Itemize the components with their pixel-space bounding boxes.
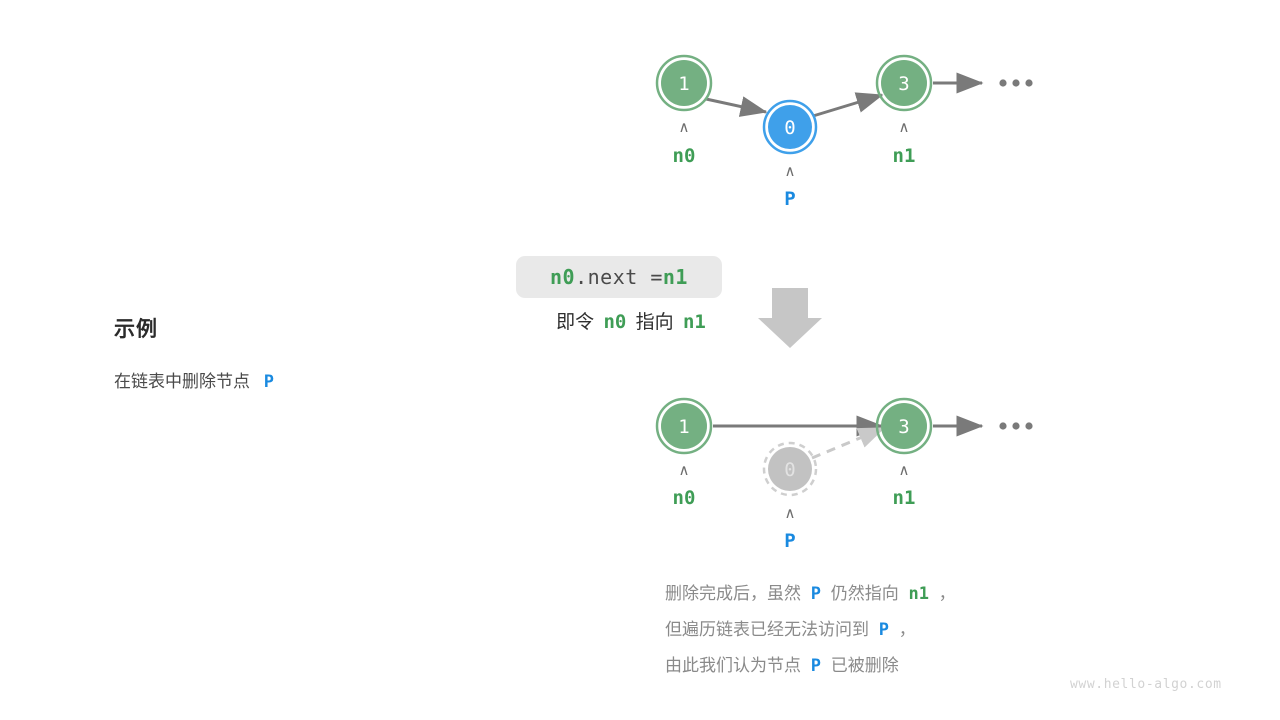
ellipsis-dot <box>999 79 1006 86</box>
ellipsis-dot <box>1012 79 1019 86</box>
explanation-line2-b: ， <box>899 620 916 639</box>
explanation-line1-c: ， <box>939 584 956 603</box>
node-value: 0 <box>784 117 795 139</box>
node-value: 1 <box>678 73 689 95</box>
node-n0-after: 1 ∧ n0 <box>657 399 711 509</box>
node-value: 3 <box>898 73 909 95</box>
node-value: 3 <box>898 416 909 438</box>
caret-icon: ∧ <box>899 461 910 479</box>
pointer-label-n1: n1 <box>893 487 916 509</box>
linked-list-diagram-svg: 1 ∧ n0 0 ∧ P 3 ∧ n1 <box>0 0 1280 720</box>
diagram-canvas: 示例 在链表中删除节点 P n0.next = n1 即令 n0 指向 n1 <box>0 0 1280 720</box>
explanation-line-1: 删除完成后，虽然 P 仍然指向 n1 ， <box>665 576 956 612</box>
explanation-line3-pointer: P <box>811 656 821 676</box>
diagram-before-deletion: 1 ∧ n0 0 ∧ P 3 ∧ n1 <box>657 56 1033 210</box>
explanation-line1-pointer: P <box>811 584 821 604</box>
explanation-line-2: 但遍历链表已经无法访问到 P ， <box>665 612 956 648</box>
caret-icon: ∧ <box>679 118 690 136</box>
explanation-line1-b: 仍然指向 <box>831 584 899 603</box>
node-n1-before: 3 ∧ n1 <box>877 56 931 167</box>
explanation-block: 删除完成后，虽然 P 仍然指向 n1 ， 但遍历链表已经无法访问到 P ， 由此… <box>665 576 956 684</box>
node-value: 0 <box>784 459 795 481</box>
caret-icon: ∧ <box>785 504 796 522</box>
ellipsis-dot <box>1025 79 1032 86</box>
explanation-line1-a: 删除完成后，虽然 <box>665 584 801 603</box>
diagram-after-deletion: 1 ∧ n0 0 ∧ P 3 ∧ n1 <box>657 399 1033 552</box>
caret-icon: ∧ <box>785 162 796 180</box>
edge-n0-to-p <box>706 99 766 112</box>
ellipsis-before <box>999 79 1032 86</box>
node-p-before: 0 ∧ P <box>764 101 816 210</box>
pointer-label-p: P <box>784 530 795 552</box>
site-watermark: www.hello-algo.com <box>1070 677 1222 692</box>
edge-p-to-n1-ghost <box>812 428 884 458</box>
pointer-label-n1: n1 <box>893 145 916 167</box>
ellipsis-dot <box>999 422 1006 429</box>
node-value: 1 <box>678 416 689 438</box>
caret-icon: ∧ <box>679 461 690 479</box>
pointer-label-p: P <box>784 188 795 210</box>
node-n0-before: 1 ∧ n0 <box>657 56 711 167</box>
ellipsis-dot <box>1012 422 1019 429</box>
explanation-line1-n1: n1 <box>908 584 928 604</box>
ellipsis-dot <box>1025 422 1032 429</box>
edge-p-to-n1 <box>813 95 882 116</box>
pointer-label-n0: n0 <box>673 145 696 167</box>
ellipsis-after <box>999 422 1032 429</box>
pointer-label-n0: n0 <box>673 487 696 509</box>
caret-icon: ∧ <box>899 118 910 136</box>
explanation-line2-a: 但遍历链表已经无法访问到 <box>665 620 869 639</box>
explanation-line-3: 由此我们认为节点 P 已被删除 <box>665 648 956 684</box>
node-n1-after: 3 ∧ n1 <box>877 399 931 509</box>
explanation-line3-a: 由此我们认为节点 <box>665 656 801 675</box>
explanation-line3-b: 已被删除 <box>831 656 899 675</box>
down-arrow-icon <box>758 288 822 348</box>
explanation-line2-pointer: P <box>879 620 889 640</box>
node-p-deleted: 0 ∧ P <box>764 443 816 552</box>
